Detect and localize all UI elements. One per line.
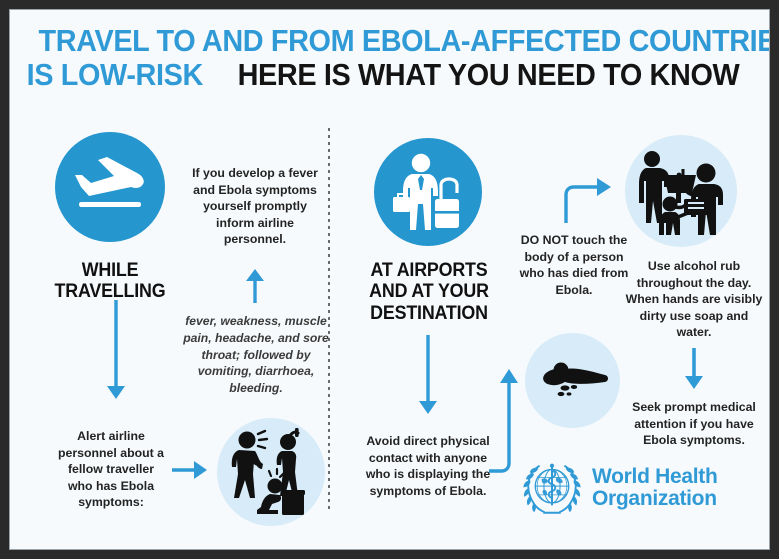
traveller-with-luggage-icon — [374, 138, 482, 246]
title-text-lowrisk: IS LOW-RISK — [27, 59, 203, 91]
heading-line-1: WHILE — [35, 260, 185, 281]
heading-line-3: DESTINATION — [359, 303, 500, 324]
do-not-touch-text: DO NOT touch the body of a person who ha… — [515, 232, 633, 298]
arrow-elbow-up-right-icon — [561, 173, 613, 225]
who-wordmark: World Health Organization — [592, 466, 718, 511]
title-line-2: IS LOW-RISKHERE IS WHAT YOU NEED TO KNOW — [10, 59, 769, 91]
who-logo: World Health Organization — [521, 457, 718, 519]
page-title: TRAVEL TO AND FROM EBOLA-AFFECTED COUNTR… — [10, 25, 769, 90]
title-text-dark: HERE IS WHAT YOU NEED TO KNOW — [229, 59, 739, 91]
who-wordmark-line-2: Organization — [592, 488, 718, 510]
inform-airline-text: If you develop a fever and Ebola symptom… — [192, 165, 318, 248]
while-travelling-heading: WHILE TRAVELLING — [35, 260, 185, 303]
airplane-takeoff-icon — [55, 132, 165, 242]
infographic-poster: TRAVEL TO AND FROM EBOLA-AFFECTED COUNTR… — [0, 0, 779, 559]
infographic-canvas: TRAVEL TO AND FROM EBOLA-AFFECTED COUNTR… — [9, 9, 770, 550]
who-emblem-icon — [521, 457, 583, 519]
heading-line-2: AND AT YOUR — [359, 281, 500, 302]
title-text-blue: TRAVEL TO AND FROM EBOLA-AFFECTED COUNTR… — [38, 25, 770, 57]
arrow-down-icon — [415, 335, 441, 415]
deceased-body-icon — [525, 333, 620, 428]
at-airports-heading: AT AIRPORTS AND AT YOUR DESTINATION — [359, 260, 500, 324]
arrow-down-icon — [681, 348, 707, 390]
who-wordmark-line-1: World Health — [592, 466, 718, 488]
seek-medical-attention-text: Seek prompt medical attention if you hav… — [629, 399, 759, 449]
alert-airline-text: Alert airline personnel about a fellow t… — [54, 428, 168, 511]
arrow-right-icon — [172, 459, 208, 481]
arrow-up-icon — [242, 268, 268, 304]
handwashing-icon — [625, 135, 737, 247]
arrow-down-icon — [103, 300, 129, 400]
symptoms-list-text: fever, weakness, muscle pain, headache, … — [182, 313, 330, 397]
heading-line-1: AT AIRPORTS — [359, 260, 500, 281]
avoid-contact-text: Avoid direct physical contact with anyon… — [365, 433, 491, 499]
sick-people-icon — [217, 418, 325, 526]
title-line-1: TRAVEL TO AND FROM EBOLA-AFFECTED COUNTR… — [10, 25, 769, 57]
alcohol-rub-text: Use alcohol rub throughout the day. When… — [623, 258, 765, 341]
